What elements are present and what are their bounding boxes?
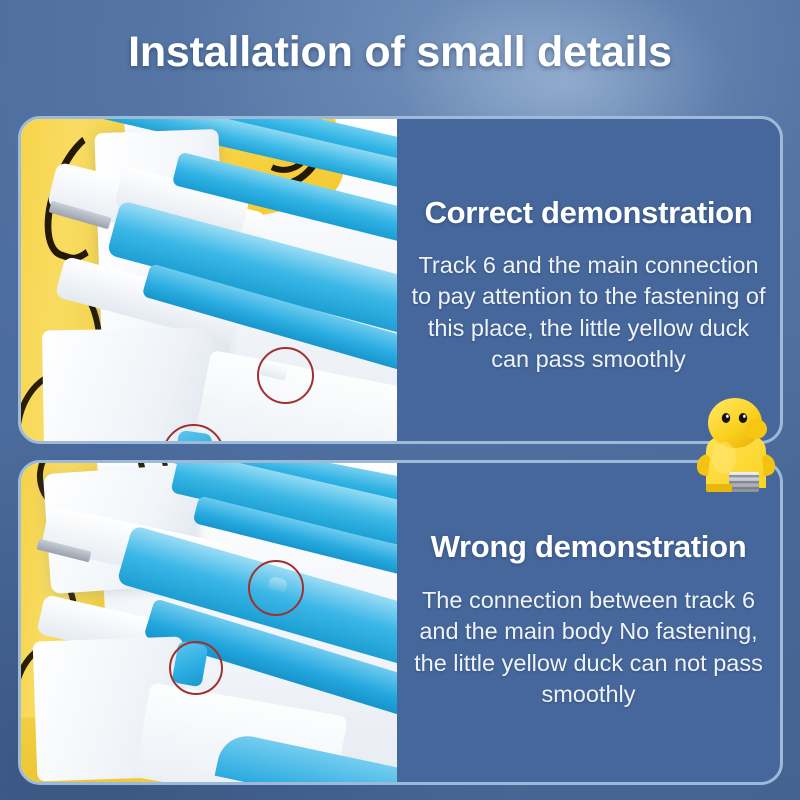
annotation-circle-track-notch [257, 347, 314, 404]
text-column-correct: Correct demonstration Track 6 and the ma… [397, 119, 780, 441]
text-column-wrong: Wrong demonstration The connection betwe… [397, 463, 780, 782]
yellow-duck-icon [694, 396, 780, 494]
panel-wrong-demonstration: Wrong demonstration The connection betwe… [18, 460, 783, 785]
body-text-wrong-demonstration: The connection between track 6 and the m… [411, 585, 766, 710]
page-title: Installation of small details [0, 28, 800, 77]
photo-wrong-demonstration [21, 463, 397, 782]
heading-correct-demonstration: Correct demonstration [425, 195, 753, 231]
photo-correct-demonstration [21, 119, 397, 441]
heading-wrong-demonstration: Wrong demonstration [431, 529, 747, 565]
panel-correct-demonstration: Correct demonstration Track 6 and the ma… [18, 116, 783, 444]
annotation-circle-track-notch [248, 560, 304, 616]
product-instruction-poster: Installation of small details [0, 0, 800, 800]
body-text-correct-demonstration: Track 6 and the main connection to pay a… [411, 250, 766, 375]
annotation-circle-blue-peg [169, 641, 223, 695]
